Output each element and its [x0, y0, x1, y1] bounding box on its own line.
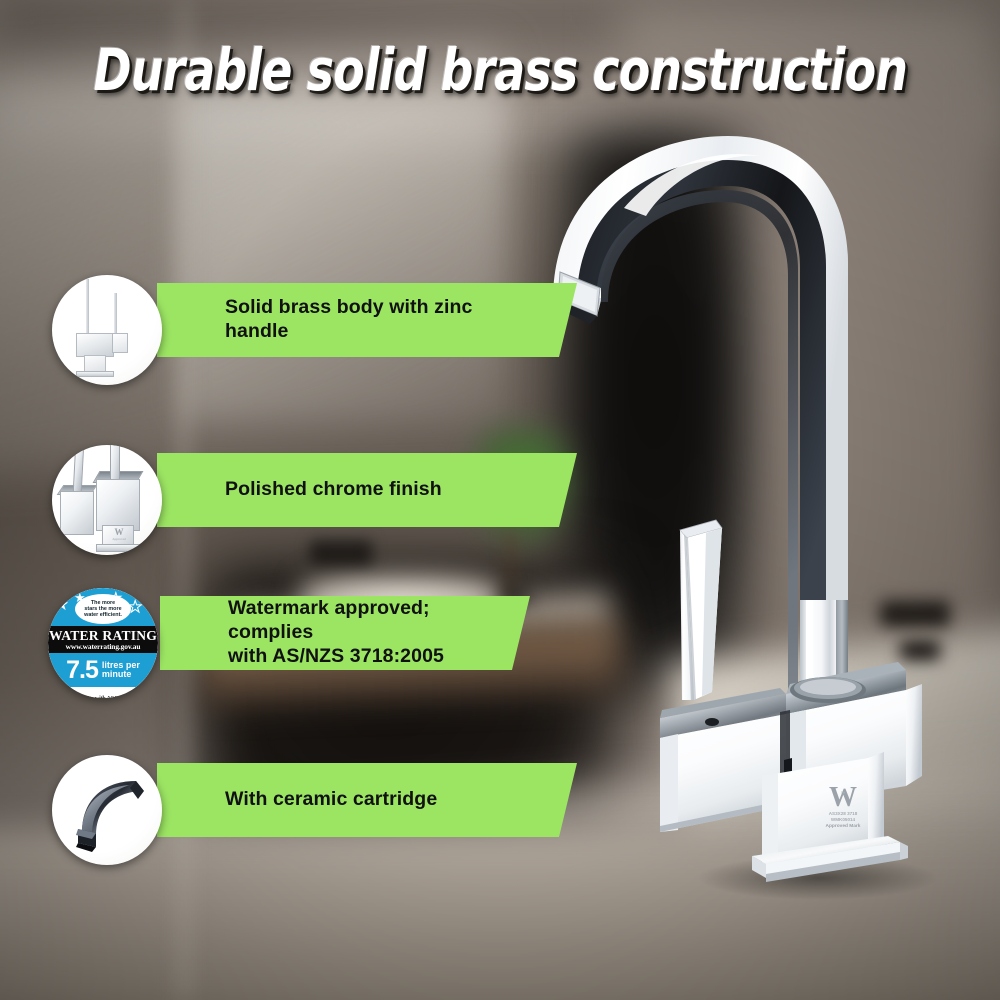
water-rating-label-icon: ★ ★ ★ ★ The more stars the more water ef…: [48, 588, 158, 698]
feature-row-solid-brass-body: Solid brass body with zinc handle: [52, 275, 482, 367]
feature-banner: Polished chrome finish: [157, 453, 577, 527]
feature-icon-bubble-water-rating: ★ ★ ★ ★ The more stars the more water ef…: [48, 588, 158, 698]
wels-rating-value-band: 7.5 litres per minute: [48, 653, 158, 687]
feature-label: With ceramic cartridge: [225, 788, 437, 812]
faucet-body-line-drawing-icon: [52, 275, 162, 385]
feature-banner: With ceramic cartridge: [157, 763, 577, 837]
feature-banner: Solid brass body with zinc handle: [157, 283, 577, 357]
wels-star-band: ★ ★ ★ ★ The more stars the more water ef…: [48, 588, 158, 630]
svg-text:™: ™: [841, 791, 846, 797]
feature-row-polished-chrome-finish: Polished chrome finish WApproved: [52, 445, 482, 537]
wels-footer: ...ance with AS/NZ...: [48, 687, 158, 698]
product-marketing-image: W ™ AS3X28 3718 WMK05014 Approved Mark D…: [0, 0, 1000, 1000]
wels-rating-value: 7.5: [66, 658, 98, 683]
wels-url: www.waterrating.gov.au: [66, 643, 141, 651]
feature-label: Solid brass body with zinc handle: [225, 296, 472, 344]
chrome-faucet-body-icon: WApproved: [52, 445, 162, 555]
headline: Durable solid brass construction: [0, 36, 1000, 104]
feature-label: Polished chrome finish: [225, 478, 442, 502]
headline-text: Durable solid brass construction: [93, 36, 907, 104]
wels-heading-bar: WATER RATING www.waterrating.gov.au: [48, 626, 158, 653]
feature-banner: Watermark approved; complies with AS/NZS…: [160, 596, 530, 670]
wels-heading: WATER RATING: [49, 629, 157, 643]
svg-text:Approved Mark: Approved Mark: [826, 823, 861, 829]
wels-star-caption: The more stars the more water efficient.: [75, 594, 131, 624]
svg-text:WMK05014: WMK05014: [831, 817, 856, 822]
feature-icon-bubble-solid-brass-body: [52, 275, 162, 385]
svg-text:AS3X28 3718: AS3X28 3718: [829, 811, 858, 816]
wels-rating-unit: litres per minute: [102, 661, 140, 680]
svg-text:W: W: [829, 782, 857, 813]
feature-row-ceramic-cartridge: With ceramic cartridge: [52, 755, 482, 847]
feature-row-watermark-approved: Watermark approved; complies with AS/NZS…: [48, 588, 488, 680]
feature-label: Watermark approved; complies with AS/NZS…: [228, 597, 512, 668]
feature-icon-bubble-polished-chrome-finish: WApproved: [52, 445, 162, 555]
star-filled-icon: ★: [54, 598, 69, 613]
faucet-handle-lever[interactable]: [680, 520, 722, 700]
feature-icon-bubble-ceramic-cartridge: [52, 755, 162, 865]
curved-spout-icon: [52, 755, 162, 865]
